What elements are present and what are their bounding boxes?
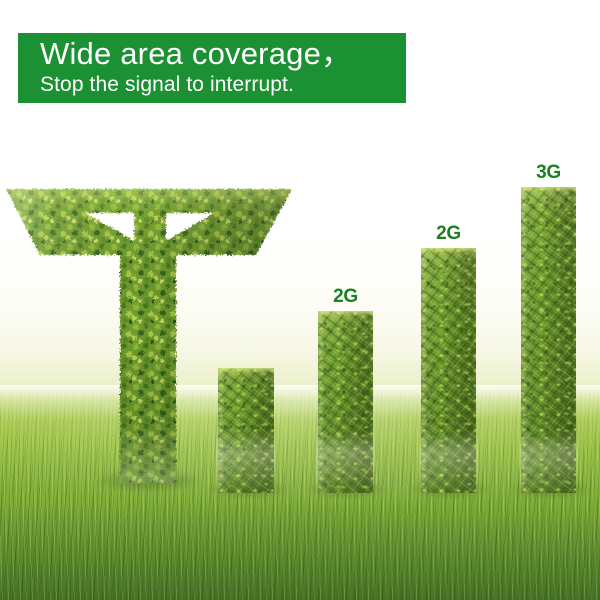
headline-banner: Wide area coverage， Stop the signal to i… xyxy=(18,33,406,103)
poster-canvas: 2G 2G 3G Wide area coverage， Stop the si… xyxy=(0,0,600,600)
bar-2-label: 2G xyxy=(318,286,373,308)
bar-1-top-highlight xyxy=(218,368,274,373)
bar-4-label: 3G xyxy=(521,162,576,184)
bar-3-label: 2G xyxy=(421,223,476,245)
subhead-text: Stop the signal to interrupt. xyxy=(40,72,406,98)
signal-bar-3 xyxy=(421,248,476,493)
headline-text: Wide area coverage， xyxy=(40,36,406,72)
signal-bar-1 xyxy=(218,368,274,493)
bar-2-top-highlight xyxy=(318,311,373,316)
signal-bar-4 xyxy=(521,187,576,493)
bar-3-top-highlight xyxy=(421,248,476,253)
signal-bar-2 xyxy=(318,311,373,493)
bar-4-top-highlight xyxy=(521,187,576,192)
